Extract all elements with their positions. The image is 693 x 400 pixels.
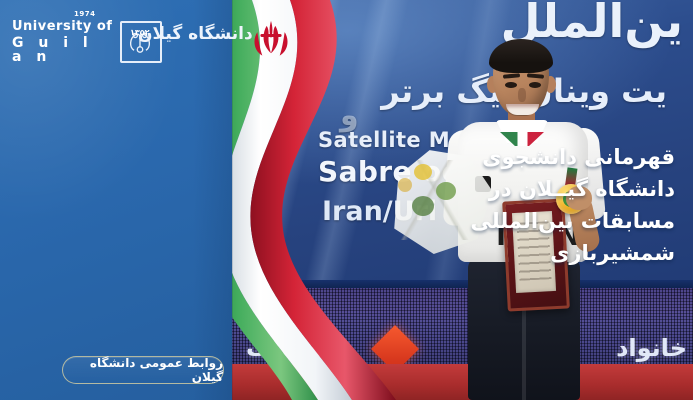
headline-line-4: شمشیربازی — [479, 238, 675, 270]
public-relations-badge-label: روابط عمومی دانشگاه گیلان — [63, 356, 223, 384]
logo-wordmark: 1974 University of G u i l a n — [12, 20, 114, 64]
headline-line-2: دانشگاه گیــلان در — [479, 174, 675, 206]
bouquet-bloom — [436, 182, 456, 200]
bouquet-bloom — [414, 164, 432, 180]
university-of-guilan-logo[interactable]: 1974 University of G u i l a n ۱۳۵۲ دانش… — [12, 18, 162, 66]
logo-year-en: 1974 — [74, 11, 95, 18]
bouquet-bloom — [412, 196, 434, 216]
logo-line-2: G u i l a n — [12, 36, 114, 64]
logo-persian-name: دانشگاه گیلان — [138, 24, 253, 44]
bouquet-bloom — [398, 178, 412, 192]
athlete-right-eye — [529, 82, 541, 88]
headline-line-1: قهرمانی دانشجوی — [479, 142, 675, 174]
logo-line-1: University of — [12, 20, 114, 33]
headline-line-3: مسابقات بین‌المللی — [479, 206, 675, 238]
athlete-left-eye — [505, 82, 517, 88]
athlete-hair — [489, 39, 553, 73]
public-relations-badge[interactable]: روابط عمومی دانشگاه گیلان — [62, 356, 224, 384]
page-title: قهرمانی دانشجوی دانشگاه گیــلان در مسابق… — [479, 142, 675, 270]
bouquet-wrap-folds — [396, 160, 476, 240]
news-banner: ین‌الملل و یت وینال لیگ برتر Satellite M… — [0, 0, 693, 400]
athlete-nose — [518, 88, 526, 102]
